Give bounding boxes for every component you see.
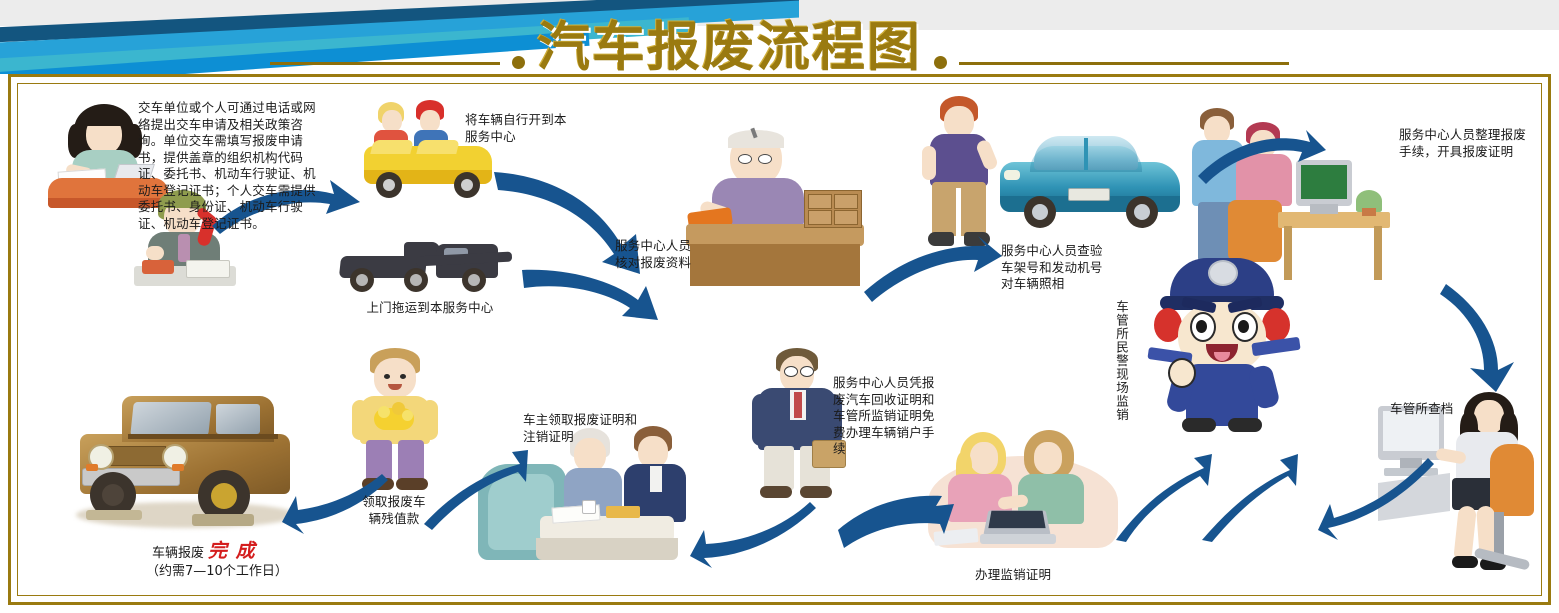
step-6-issue-certificate-text: 服务中心人员整理报废手续，开具报废证明	[1399, 127, 1529, 160]
arrow-check-to-inspect	[862, 236, 1002, 306]
illustration-standing-customer	[918, 96, 998, 256]
step-2-drive-in-text: 将车辆自行开到本服务中心	[465, 112, 575, 145]
illustration-teal-sedan	[1000, 126, 1180, 236]
illustration-police-mascot	[1148, 258, 1298, 458]
step-12-residual-payment-text: 领取报废车辆残值款	[356, 494, 432, 527]
top-decorative-band	[0, 0, 1559, 74]
arrow-deregister-to-meeting	[690, 500, 820, 566]
step-3-tow-in-text: 上门拖运到本服务中心	[335, 300, 525, 317]
completion-duration: （约需7—10个工作日）	[146, 560, 288, 579]
band-grey-strip-right	[799, 0, 1559, 30]
arrow-meeting-to-residual	[418, 448, 528, 532]
arrow-supervision-to-deregister	[834, 490, 954, 550]
poster-canvas: 汽车报废流程图	[0, 0, 1559, 613]
step-5-inspect-vin-text: 服务中心人员查验车架号和发动机号对车辆照相	[1001, 243, 1111, 293]
completion-line: 车辆报废完 成	[152, 536, 256, 563]
step-7-police-supervise-text: 车管所民警现场监销	[1112, 300, 1130, 430]
arrow-inspect-to-paperwork	[1196, 128, 1326, 188]
step-10-deregister-text: 服务中心人员凭报废汽车回收证明和车管所监销证明免费办理车辆销户手续	[833, 375, 945, 458]
step-11-owner-receives-text: 车主领取报废证明和注销证明	[523, 412, 641, 445]
step-4-check-docs-text: 服务中心人员核对报废资料	[615, 238, 701, 271]
illustration-two-women-laptop	[928, 430, 1118, 560]
arrow-archive-to-police	[1318, 458, 1438, 548]
step-9-supervision-cert-text: 办理监销证明	[975, 567, 1051, 584]
completion-highlight: 完 成	[208, 540, 256, 562]
illustration-clerk-checking-documents	[686, 128, 866, 288]
arrow-supervision-back-to-police	[1104, 452, 1214, 542]
arrow-paperwork-to-archive	[1440, 282, 1530, 392]
illustration-scrapped-jeep	[66, 392, 306, 542]
completion-prefix: 车辆报废	[152, 546, 204, 561]
step-1-application-text: 交车单位或个人可通过电话或网络提出交车申请及相关政策咨询。单位交车需填写报废申请…	[138, 100, 328, 232]
step-8-archive-check-text: 车管所查档	[1390, 401, 1454, 418]
illustration-service-staff-briefcase	[752, 348, 844, 504]
arrow-tow-to-check	[520, 264, 660, 324]
